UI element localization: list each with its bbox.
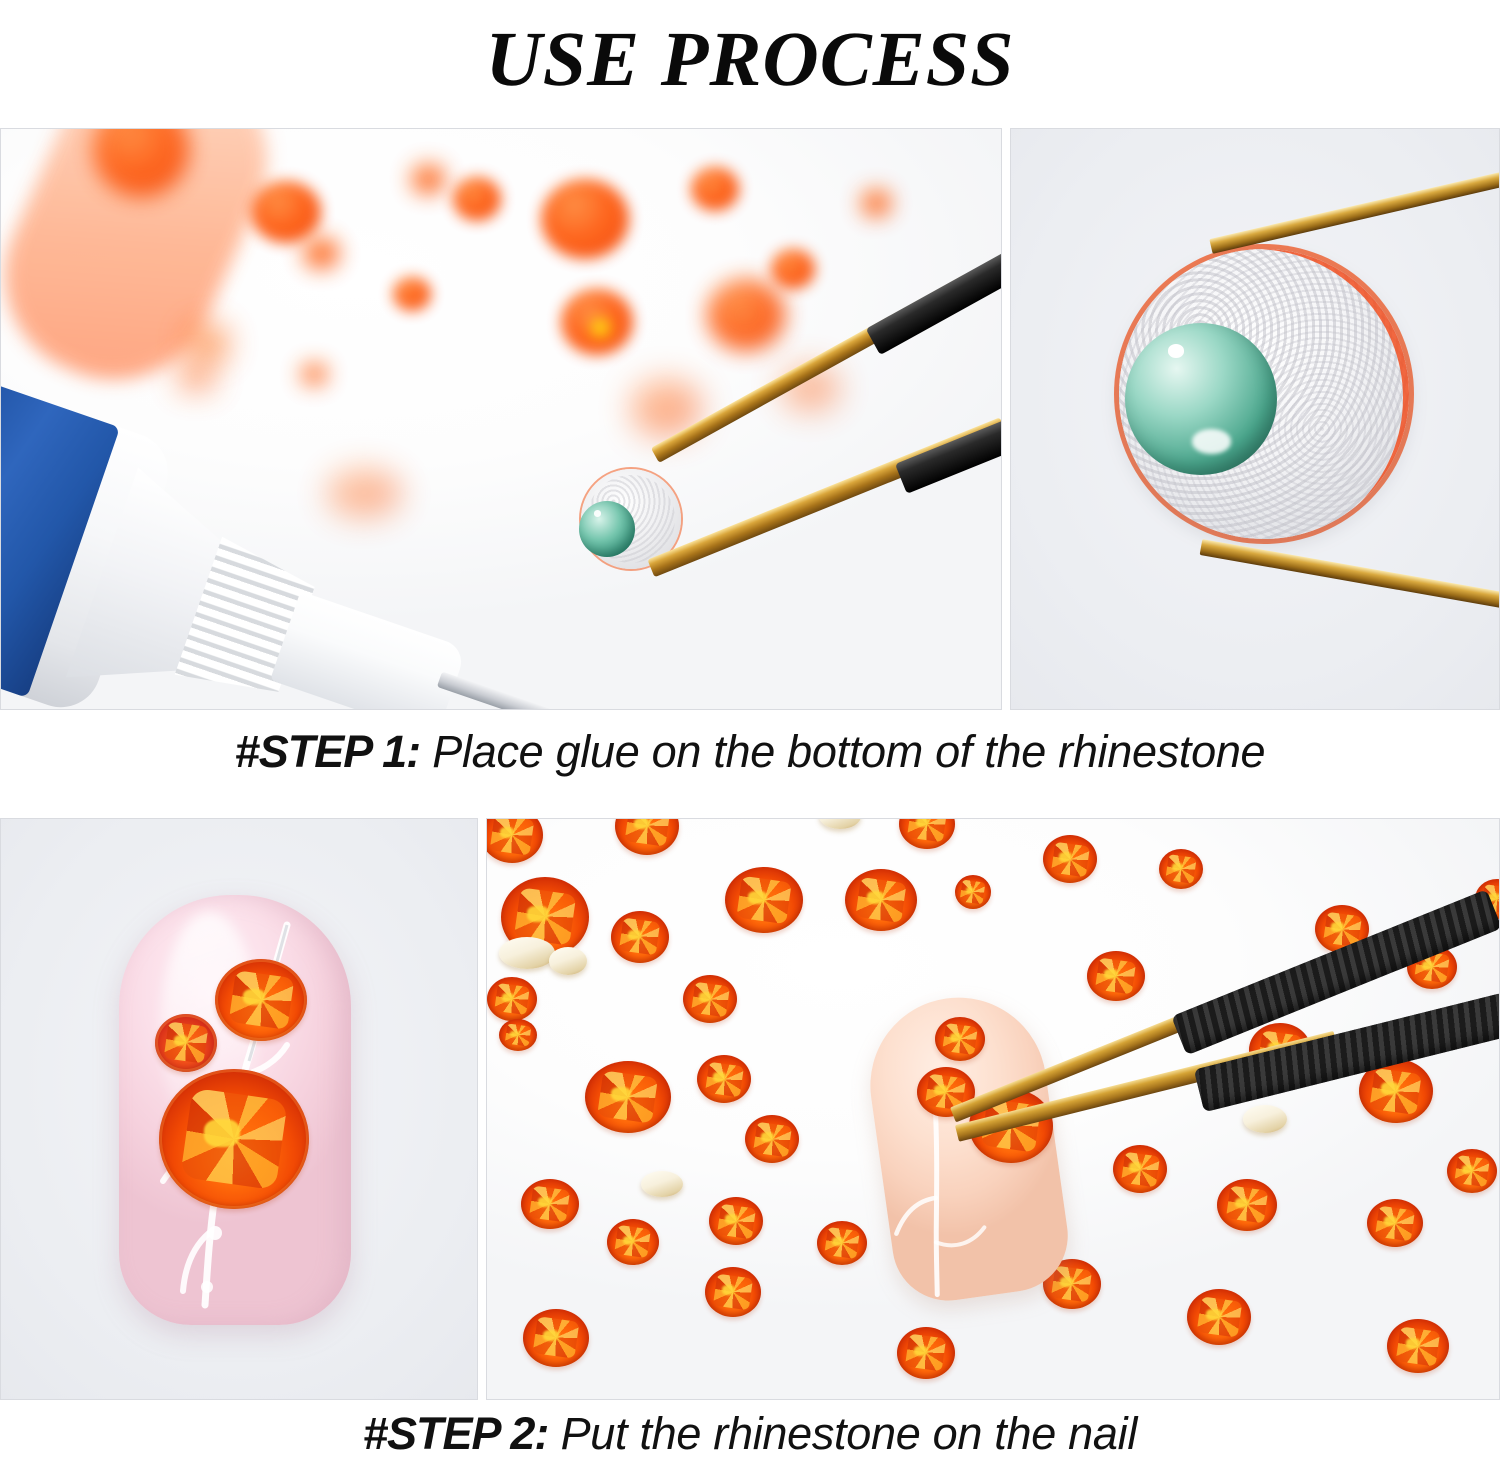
- bokeh-stone: [393, 277, 431, 311]
- step-1-image-row: R: [0, 128, 1500, 710]
- nail-rhinestone: [935, 1017, 985, 1061]
- glue-highlight: [1192, 429, 1232, 453]
- rhinestone-foil-back-macro: [1119, 249, 1409, 539]
- bokeh-sparkle: [591, 319, 610, 336]
- step-2-caption: #STEP 2: Put the rhinestone on the nail: [0, 1408, 1500, 1460]
- nail-rhinestone-small: [155, 1014, 217, 1072]
- step-1-tag: #STEP 1:: [235, 726, 420, 777]
- scatter-rhinestone: [1113, 1145, 1167, 1193]
- scatter-rhinestone: [725, 867, 803, 933]
- scatter-rhinestone: [611, 911, 669, 963]
- placing-rhinestone-photo: [486, 818, 1500, 1400]
- bokeh-stone: [301, 363, 327, 385]
- page-title: USE PROCESS: [0, 0, 1500, 118]
- glue-highlight: [1168, 344, 1185, 358]
- step-2-text: Put the rhinestone on the nail: [548, 1408, 1137, 1459]
- bokeh-stone: [453, 177, 501, 221]
- scatter-rhinestone: [607, 1219, 659, 1265]
- scatter-rhinestone: [1087, 951, 1145, 1001]
- step-1-caption: #STEP 1: Place glue on the bottom of the…: [0, 726, 1500, 778]
- scatter-rhinestone: [697, 1055, 751, 1103]
- bokeh-stone: [411, 164, 445, 194]
- bokeh-stone: [691, 167, 739, 211]
- glue-drop: [1125, 323, 1277, 475]
- bokeh-stone: [303, 237, 339, 269]
- bokeh-stone: [541, 179, 629, 259]
- step-2-tag: #STEP 2:: [363, 1408, 548, 1459]
- rhinestone-closeup-photo: [1010, 128, 1500, 710]
- scatter-rhinestone: [745, 1115, 799, 1163]
- scatter-rhinestone: [585, 1061, 671, 1133]
- bokeh-stone: [251, 181, 321, 243]
- step-2-image-row: [0, 818, 1500, 1400]
- bokeh-stone: [561, 289, 633, 355]
- bokeh-sparkle: [204, 342, 214, 351]
- scatter-rhinestone: [523, 1309, 589, 1367]
- scatter-rhinestone-back: [549, 947, 587, 975]
- scatter-rhinestone: [683, 975, 737, 1023]
- scatter-rhinestone: [897, 1327, 955, 1379]
- nail-rhinestone-large: [159, 1069, 309, 1209]
- scatter-rhinestone-back: [499, 937, 555, 969]
- scatter-rhinestone: [1217, 1179, 1277, 1231]
- step-1-text: Place glue on the bottom of the rhinesto…: [420, 726, 1265, 777]
- scatter-rhinestone: [817, 1221, 867, 1265]
- scatter-rhinestone: [499, 1019, 537, 1051]
- scatter-rhinestone: [705, 1267, 761, 1317]
- finished-nail-photo: [0, 818, 478, 1400]
- bokeh-stone: [179, 363, 213, 389]
- scatter-rhinestone: [487, 977, 537, 1021]
- scatter-rhinestone: [521, 1179, 579, 1229]
- scatter-rhinestone-back: [641, 1171, 683, 1197]
- scatter-rhinestone: [1187, 1289, 1251, 1345]
- nail-rhinestone-top: [215, 959, 307, 1041]
- scatter-rhinestone: [1159, 849, 1203, 889]
- bokeh-stone: [771, 249, 815, 289]
- bokeh-stone: [707, 279, 785, 351]
- scatter-rhinestone: [709, 1197, 763, 1245]
- glue-drop: [579, 501, 635, 557]
- glue-application-photo: R: [0, 128, 1002, 710]
- scatter-rhinestone: [1387, 1319, 1449, 1373]
- bokeh-stone: [187, 325, 227, 361]
- scatter-rhinestone: [1043, 835, 1097, 883]
- scatter-rhinestone: [1447, 1149, 1497, 1193]
- scatter-rhinestone: [1367, 1199, 1423, 1247]
- glue-bottle-nozzle: [270, 591, 467, 710]
- bokeh-stone: [861, 189, 891, 217]
- scatter-rhinestone: [955, 875, 991, 909]
- scatter-rhinestone-back: [1243, 1105, 1287, 1133]
- scatter-rhinestone: [845, 869, 917, 931]
